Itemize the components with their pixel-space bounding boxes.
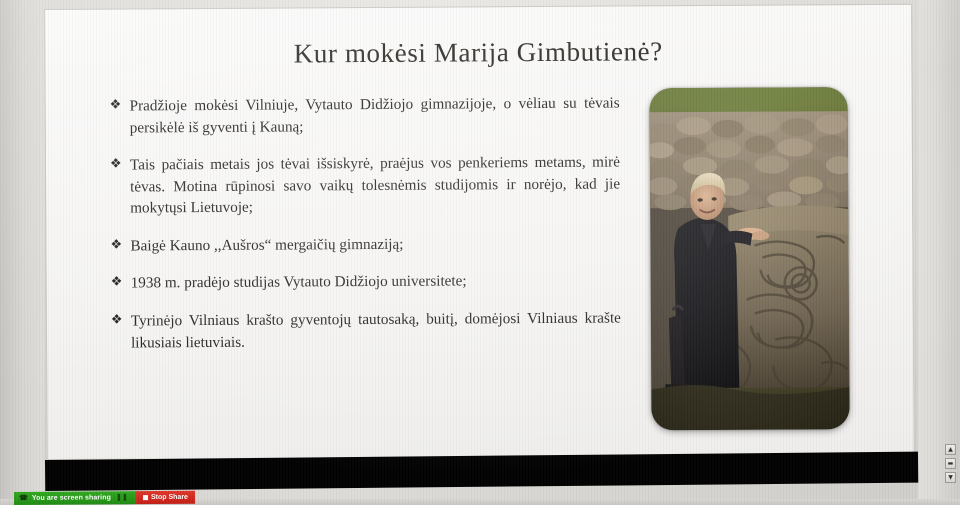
bullet-diamond-icon: ❖ xyxy=(110,98,130,111)
photographed-monitor-screen: Kur mokėsi Marija Gimbutienė? ❖ Pradžioj… xyxy=(0,0,960,505)
desktop-left-margin xyxy=(0,0,44,505)
pause-icon[interactable]: ❚❚ xyxy=(119,494,125,501)
list-item-text: Baigė Kauno ,,Aušros“ mergaičių gimnazij… xyxy=(130,232,620,257)
list-item-text: Tais pačiais metais jos tėvai išsiskyrė,… xyxy=(130,152,620,220)
bullet-diamond-icon: ❖ xyxy=(110,238,130,251)
list-item: ❖ Baigė Kauno ,,Aušros“ mergaičių gimnaz… xyxy=(110,232,620,257)
photo-artwork xyxy=(649,87,849,430)
page-title: Kur mokėsi Marija Gimbutienė? xyxy=(45,35,911,71)
list-item: ❖ Tyrinėjo Vilniaus krašto gyventojų tau… xyxy=(111,308,621,354)
scroll-thumb[interactable]: ▬ xyxy=(945,458,956,469)
sharing-status-label: You are screen sharing xyxy=(32,494,111,502)
stop-share-button[interactable]: Stop Share xyxy=(136,491,195,504)
bullet-diamond-icon: ❖ xyxy=(111,276,131,289)
list-item-text: 1938 m. pradėjo studijas Vytauto Didžioj… xyxy=(131,270,621,295)
desktop-right-margin xyxy=(918,0,960,505)
scroll-up-button[interactable]: ▲ xyxy=(945,444,956,455)
bullet-list: ❖ Pradžioje mokėsi Vilniuje, Vytauto Did… xyxy=(110,92,622,369)
list-item-text: Tyrinėjo Vilniaus krašto gyventojų tauto… xyxy=(131,308,621,354)
bullet-diamond-icon: ❖ xyxy=(110,158,130,171)
zoom-screen-share-toolbar[interactable]: ☎ You are screen sharing ❚❚ Stop Share xyxy=(14,490,244,505)
stop-square-icon xyxy=(143,495,148,500)
status-badge: ☎ You are screen sharing ❚❚ xyxy=(14,491,136,505)
photo-marija-gimbutiene-at-carved-megalith[interactable] xyxy=(649,87,849,430)
scrollbar[interactable]: ▲ ▬ ▼ xyxy=(945,444,956,483)
stop-share-label: Stop Share xyxy=(151,494,188,501)
bullet-diamond-icon: ❖ xyxy=(111,314,131,327)
scroll-down-button[interactable]: ▼ xyxy=(945,472,956,483)
list-item: ❖ 1938 m. pradėjo studijas Vytauto Didži… xyxy=(111,270,621,295)
phone-icon: ☎ xyxy=(19,495,28,502)
list-item-text: Pradžioje mokėsi Vilniuje, Vytauto Didži… xyxy=(130,92,620,138)
list-item: ❖ Pradžioje mokėsi Vilniuje, Vytauto Did… xyxy=(110,92,620,138)
list-item: ❖ Tais pačiais metais jos tėvai išsiskyr… xyxy=(110,152,620,220)
presentation-slide[interactable]: Kur mokėsi Marija Gimbutienė? ❖ Pradžioj… xyxy=(44,4,915,459)
